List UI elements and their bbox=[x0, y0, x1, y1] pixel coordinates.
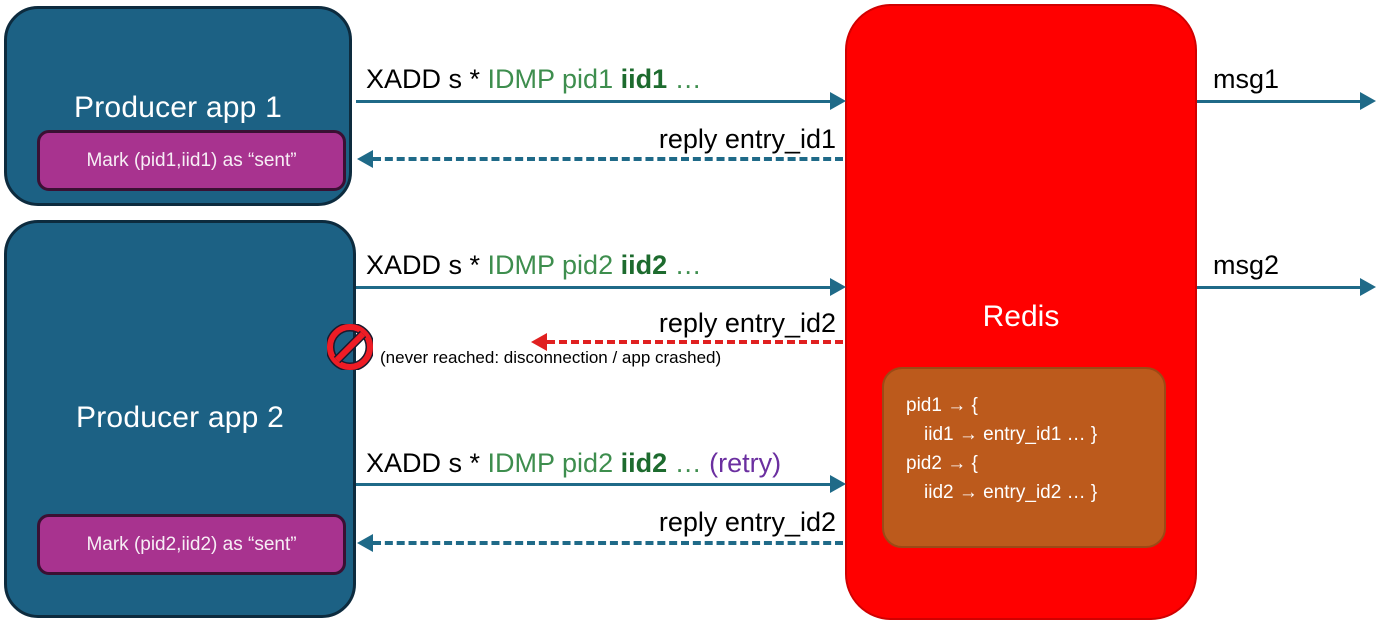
flow-xadd-1-arrowhead bbox=[830, 92, 846, 110]
flow-xadd-1-arrow-line bbox=[356, 100, 834, 103]
mark-sent-box-2: Mark (pid2,iid2) as “sent” bbox=[37, 514, 346, 575]
redis-store-line-4: iid2 → entry_id2 … } bbox=[906, 478, 1146, 507]
flow-xadd-2-idmp: IDMP pid2 bbox=[488, 250, 621, 280]
flow-reply-2-lost-arrow-line bbox=[547, 340, 843, 344]
flow-reply-2-arrowhead bbox=[357, 534, 373, 552]
output-msg1-arrowhead bbox=[1360, 92, 1376, 110]
output-msg1-arrow-line bbox=[1197, 100, 1364, 103]
flow-reply-1-arrow-line bbox=[373, 157, 843, 161]
flow-xadd-1-dots: … bbox=[667, 64, 702, 94]
flow-reply-1-arrowhead bbox=[357, 150, 373, 168]
diagram-canvas: Producer app 1 Mark (pid1,iid1) as “sent… bbox=[0, 0, 1380, 624]
mark-sent-label-1: Mark (pid1,iid1) as “sent” bbox=[86, 150, 296, 172]
flow-reply-2-label: reply entry_id2 bbox=[540, 507, 836, 537]
flow-xadd-1-iid: iid1 bbox=[621, 64, 668, 94]
flow-xadd-2-dots: … bbox=[667, 250, 702, 280]
redis-store-line-2: iid1 → entry_id1 … } bbox=[906, 420, 1146, 449]
flow-xadd-2-iid: iid2 bbox=[621, 250, 668, 280]
no-entry-icon bbox=[327, 324, 373, 370]
flow-xadd-2-arrowhead bbox=[830, 278, 846, 296]
flow-reply-2-arrow-line bbox=[373, 541, 843, 545]
flow-xadd-2-arrow-line bbox=[356, 286, 834, 289]
flow-xadd-2-retry-cmd: XADD s * bbox=[366, 448, 488, 478]
redis-box: Redis pid1 → { iid1 → entry_id1 … } pid2… bbox=[845, 4, 1197, 620]
redis-title: Redis bbox=[847, 300, 1195, 334]
flow-xadd-2-retry-tag: (retry) bbox=[709, 448, 781, 478]
redis-store-box: pid1 → { iid1 → entry_id1 … } pid2 → { i… bbox=[882, 367, 1166, 548]
flow-reply-1-label: reply entry_id1 bbox=[540, 124, 836, 154]
flow-reply-2-lost-label: reply entry_id2 bbox=[540, 308, 836, 338]
mark-sent-box-1: Mark (pid1,iid1) as “sent” bbox=[37, 130, 346, 191]
output-msg2-label: msg2 bbox=[1213, 250, 1279, 280]
flow-reply-2-lost-note: (never reached: disconnection / app cras… bbox=[380, 348, 721, 368]
flow-xadd-2-retry-arrow-line bbox=[356, 483, 834, 486]
redis-store-line-1: pid1 → { bbox=[906, 391, 1146, 420]
producer-app-1-title: Producer app 1 bbox=[7, 91, 349, 125]
redis-store-line-3: pid2 → { bbox=[906, 449, 1146, 478]
output-msg2-arrowhead bbox=[1360, 278, 1376, 296]
flow-xadd-1-cmd: XADD s * bbox=[366, 64, 488, 94]
flow-xadd-2-retry-iid: iid2 bbox=[621, 448, 668, 478]
output-msg1-label: msg1 bbox=[1213, 64, 1279, 94]
mark-sent-label-2: Mark (pid2,iid2) as “sent” bbox=[86, 534, 296, 556]
flow-xadd-1-idmp: IDMP pid1 bbox=[488, 64, 621, 94]
flow-xadd-2-retry-idmp: IDMP pid2 bbox=[488, 448, 621, 478]
flow-xadd-2-label: XADD s * IDMP pid2 iid2 … bbox=[366, 250, 702, 280]
flow-xadd-2-retry-label: XADD s * IDMP pid2 iid2 … (retry) bbox=[366, 448, 781, 478]
flow-xadd-2-cmd: XADD s * bbox=[366, 250, 488, 280]
flow-xadd-2-retry-dots: … bbox=[667, 448, 709, 478]
flow-xadd-2-retry-arrowhead bbox=[830, 475, 846, 493]
producer-app-2-title: Producer app 2 bbox=[7, 401, 353, 435]
flow-xadd-1-label: XADD s * IDMP pid1 iid1 … bbox=[366, 64, 702, 94]
output-msg2-arrow-line bbox=[1197, 286, 1364, 289]
